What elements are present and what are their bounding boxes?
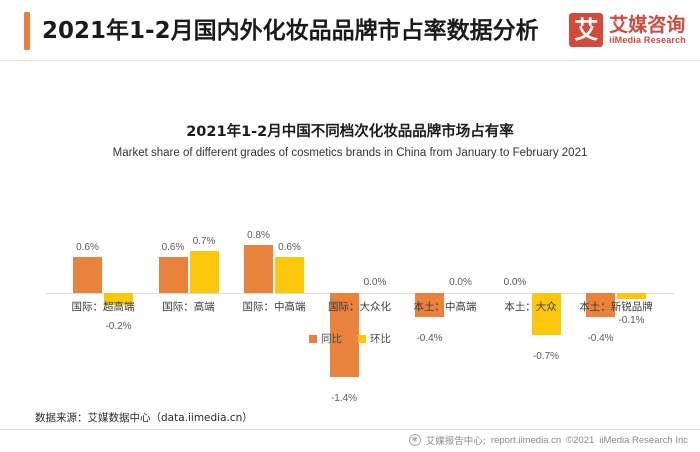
globe-icon: ◉ [409, 434, 421, 446]
data-source-note: 数据来源：艾媒数据中心（data.iimedia.cn） [35, 410, 253, 425]
value-label: 0.6% [260, 242, 320, 253]
page-header: 2021年1-2月国内外化妆品品牌市占率数据分析 艾 艾媒咨询 iiMedia … [0, 0, 700, 61]
legend-swatch-icon [358, 335, 366, 343]
legend-label: 同比 [321, 331, 342, 346]
value-label: 0.7% [174, 236, 234, 247]
bar-huanbi-2[interactable] [275, 257, 304, 293]
chart-title: 2021年1-2月中国不同档次化妆品品牌市场占有率 [0, 120, 700, 141]
value-label: 0.0% [431, 277, 491, 288]
logo-text: 艾媒咨询 iiMedia Research [609, 15, 686, 46]
value-label: 0.6% [58, 242, 118, 253]
footer-bar: ◉ 艾媒报告中心: report.iimedia.cn ©2021 iiMedi… [0, 429, 700, 452]
chart-legend: 同比环比 [0, 331, 700, 346]
bar-huanbi-1[interactable] [190, 251, 219, 293]
logo-name-en: iiMedia Research [609, 35, 686, 46]
value-label: 0.8% [229, 230, 289, 241]
report-center-label: 艾媒报告中心: [426, 433, 486, 447]
report-url[interactable]: report.iimedia.cn [491, 435, 561, 446]
legend-item-huanbi[interactable]: 环比 [358, 331, 391, 346]
bar-tongbi-1[interactable] [159, 257, 188, 293]
logo-name-cn: 艾媒咨询 [609, 15, 686, 35]
screenshot-root: 2021年1-2月国内外化妆品品牌市占率数据分析 艾 艾媒咨询 iiMedia … [0, 0, 700, 451]
legend-swatch-icon [309, 335, 317, 343]
zero-axis-line [46, 293, 674, 294]
value-label: 0.0% [345, 277, 405, 288]
category-label: 本土：新锐品牌 [561, 299, 671, 314]
brand-logo: 艾 艾媒咨询 iiMedia Research [569, 13, 686, 47]
legend-item-tongbi[interactable]: 同比 [309, 331, 342, 346]
chart-card: 2021年1-2月中国不同档次化妆品品牌市场占有率 Market share o… [0, 61, 700, 401]
company-name: iiMedia Research Inc [599, 435, 688, 446]
value-label: -1.4% [314, 393, 374, 404]
value-label: -0.7% [516, 351, 576, 362]
copyright-text: ©2021 [566, 435, 594, 446]
footer-credits: ◉ 艾媒报告中心: report.iimedia.cn ©2021 iiMedi… [409, 433, 688, 447]
page-title: 2021年1-2月国内外化妆品品牌市占率数据分析 [42, 11, 539, 45]
bar-tongbi-0[interactable] [73, 257, 102, 293]
value-label: -0.1% [602, 315, 662, 326]
chart-subtitle: Market share of different grades of cosm… [0, 147, 700, 159]
legend-label: 环比 [370, 331, 391, 346]
logo-mark-icon: 艾 [569, 13, 603, 47]
header-accent-bar [24, 12, 30, 50]
value-label: 0.0% [485, 277, 545, 288]
